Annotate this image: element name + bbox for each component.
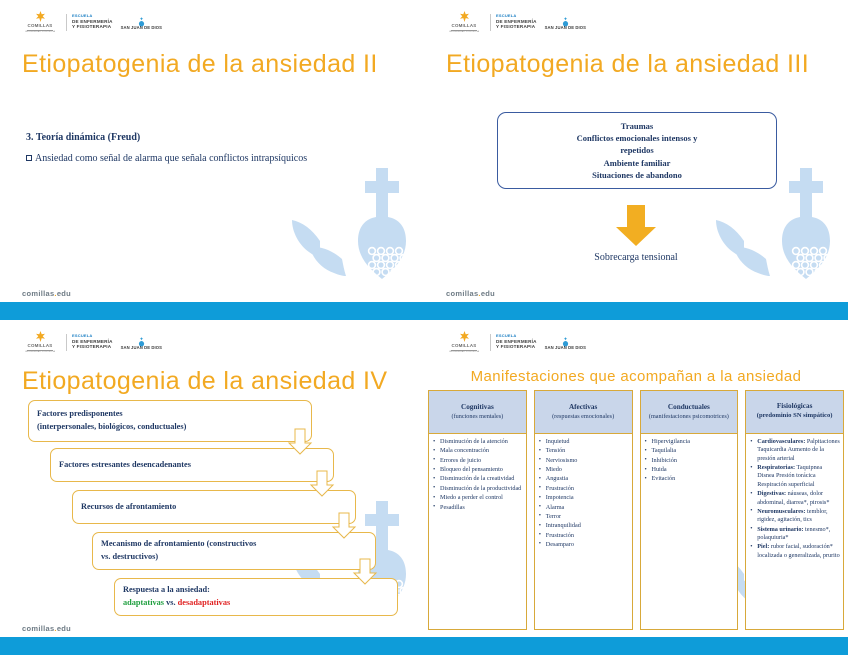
column-header-fisiologicas: Fisiológicas (predominio SN simpático) — [745, 390, 844, 434]
list-item: Desamparo — [539, 541, 629, 549]
column-subtitle: (funciones mentales) — [431, 413, 524, 421]
down-arrow-icon — [613, 205, 659, 247]
comillas-star-icon — [458, 11, 471, 22]
causes-box-text: Traumas Conflictos emocionales intensos … — [577, 120, 698, 182]
item-label: Cardiovasculares: — [757, 438, 805, 445]
list-item: Pesadillas — [433, 504, 523, 512]
vs-label: vs. — [164, 598, 178, 607]
column-subtitle: (manifestaciones psicomotrices) — [643, 413, 736, 421]
comillas-wordmark: COMILLAS — [452, 343, 477, 348]
flow-box-line-1: Factores estresantes desencadenantes — [59, 459, 325, 472]
list-item: Inhibición — [645, 457, 735, 465]
list-item: Disminución de la productividad — [433, 485, 523, 493]
column-title: Cognitivas — [431, 403, 524, 411]
column-fisiologicas: Fisiológicas (predominio SN simpático) C… — [745, 390, 844, 630]
anxiety-flow-diagram: Factores predisponentes (interpersonales… — [0, 320, 424, 655]
list-item: Taquilalia — [645, 447, 735, 455]
list-item: Hipervigilancia — [645, 438, 735, 446]
list-item: Respiratorias: Taquipnea Disnea Presión … — [750, 464, 840, 489]
sjd-wordmark: SAN JUAN DE DIOS — [545, 25, 586, 30]
item-label: Neuromusculares: — [757, 508, 805, 515]
list-item: Bloqueo del pensamiento — [433, 466, 523, 474]
adaptive-label: adaptativas — [123, 598, 164, 607]
item-text: rubor facial, sudoración* localizada o g… — [757, 543, 839, 558]
comillas-logo: COMILLAS UNIVERSIDAD PONTIFICIA — [19, 11, 61, 33]
comillas-star-icon — [458, 331, 471, 342]
square-bullet-icon — [26, 155, 32, 161]
flow-box-line-2: (interpersonales, biológicos, conductual… — [37, 421, 303, 434]
column-subtitle: (predominio SN simpático) — [748, 412, 841, 420]
section-heading: 3. Teoría dinámica (Freud) — [26, 132, 140, 143]
list-item: Disminución de la atención — [433, 438, 523, 446]
footer-url-tld: edu — [57, 289, 71, 298]
list-item: Piel: rubor facial, sudoración* localiza… — [750, 543, 840, 560]
flow-arrow-1-icon — [287, 428, 313, 456]
column-title: Conductuales — [643, 403, 736, 411]
page-title: Manifestaciones que acompañan a la ansie… — [424, 368, 848, 385]
comillas-subtitle: UNIVERSIDAD PONTIFICIA — [25, 31, 55, 33]
list-item: Frustración — [539, 485, 629, 493]
footer-url: comillas.edu — [22, 289, 71, 298]
list-item: Errores de juicio — [433, 457, 523, 465]
comillas-wordmark: COMILLAS — [28, 23, 53, 28]
footer-url-tld: edu — [57, 624, 71, 633]
footer-bar — [424, 302, 848, 320]
list-item: Miedo a perder el control — [433, 494, 523, 502]
bullet-text: Ansiedad como señal de alarma que señala… — [35, 152, 307, 166]
san-juan-de-dios-logo: SAN JUAN DE DIOS — [545, 14, 586, 30]
san-juan-de-dios-logo: SAN JUAN DE DIOS — [121, 14, 162, 30]
escuela-logo: ESCUELA DE ENFERMERÍA Y FISIOTERAPIA — [72, 14, 113, 29]
escuela-logo: ESCUELA DE ENFERMERÍA Y FISIOTERAPIA — [496, 334, 537, 349]
comillas-star-icon — [34, 11, 47, 22]
flow-box-line-2: vs. destructivos) — [101, 551, 367, 564]
comillas-logo: COMILLAS UNIVERSIDAD PONTIFICIA — [443, 331, 485, 353]
list-item: Evitación — [645, 475, 735, 483]
flow-box-predisposing-factors: Factores predisponentes (interpersonales… — [28, 400, 312, 442]
list-item: Disminución de la creatividad — [433, 475, 523, 483]
slide-4: COMILLAS UNIVERSIDAD PONTIFICIA ESCUELA … — [424, 320, 848, 655]
column-cognitivas: Cognitivas (funciones mentales) Disminuc… — [428, 390, 527, 630]
flow-box-line-1: Respuesta a la ansiedad: — [123, 584, 389, 597]
list-item: Huida — [645, 466, 735, 474]
column-title: Afectivas — [537, 403, 630, 411]
item-label: Piel: — [757, 543, 769, 550]
pomegranate-icon — [561, 14, 570, 24]
san-juan-de-dios-logo: SAN JUAN DE DIOS — [545, 334, 586, 350]
footer-url-name: comillas — [22, 289, 54, 298]
sjd-wordmark: SAN JUAN DE DIOS — [545, 345, 586, 350]
column-header-conductuales: Conductuales (manifestaciones psicomotri… — [640, 390, 739, 434]
institution-logo: COMILLAS UNIVERSIDAD PONTIFICIA ESCUELA … — [443, 11, 586, 33]
comillas-subtitle: UNIVERSIDAD PONTIFICIA — [449, 351, 479, 353]
logo-separator — [66, 14, 67, 31]
list-item: Nerviosismo — [539, 457, 629, 465]
list-item: Mala concentración — [433, 447, 523, 455]
manifestations-table: Cognitivas (funciones mentales) Disminuc… — [424, 390, 848, 630]
logo-separator — [490, 14, 491, 31]
comillas-logo: COMILLAS UNIVERSIDAD PONTIFICIA — [443, 11, 485, 33]
comillas-wordmark: COMILLAS — [452, 23, 477, 28]
page-title: Etiopatogenia de la ansiedad III — [446, 50, 809, 79]
institution-logo: COMILLAS UNIVERSIDAD PONTIFICIA ESCUELA … — [19, 11, 162, 33]
footer-url: comillas.edu — [22, 624, 71, 633]
list-item: Ansiedad como señal de alarma que señala… — [26, 152, 376, 166]
pomegranate-icon — [137, 14, 146, 24]
footer-url-tld: edu — [481, 289, 495, 298]
list-afectivas: Inquietud Tensión Nerviosismo Miedo Angu… — [539, 438, 629, 549]
flow-box-line-1: Mecanismo de afrontamiento (constructivo… — [101, 538, 367, 551]
column-title: Fisiológicas — [748, 402, 841, 410]
column-body-cognitivas: Disminución de la atención Mala concentr… — [428, 434, 527, 630]
slide-2: COMILLAS UNIVERSIDAD PONTIFICIA ESCUELA … — [424, 0, 848, 320]
list-item: Cardiovasculares: Palpitaciones Taquicar… — [750, 438, 840, 463]
list-item: Digestivas: náuseas, dolor abdominal, di… — [750, 490, 840, 507]
flow-arrow-2-icon — [309, 470, 335, 498]
column-conductuales: Conductuales (manifestaciones psicomotri… — [640, 390, 739, 630]
item-label: Respiratorias: — [757, 464, 795, 471]
slide-3: COMILLAS UNIVERSIDAD PONTIFICIA ESCUELA … — [0, 320, 424, 655]
institution-logo: COMILLAS UNIVERSIDAD PONTIFICIA ESCUELA … — [443, 331, 586, 353]
escuela-line-3: Y FISIOTERAPIA — [496, 344, 537, 349]
outcome-caption: Sobrecarga tensional — [424, 252, 848, 263]
list-item: Miedo — [539, 466, 629, 474]
list-conductuales: Hipervigilancia Taquilalia Inhibición Hu… — [645, 438, 735, 484]
escuela-line-3: Y FISIOTERAPIA — [496, 24, 537, 29]
list-item: Terror — [539, 513, 629, 521]
slide-1: COMILLAS UNIVERSIDAD PONTIFICIA ESCUELA … — [0, 0, 424, 320]
page-title: Etiopatogenia de la ansiedad II — [22, 50, 378, 79]
footer-url: comillas.edu — [446, 289, 495, 298]
column-header-afectivas: Afectivas (respuestas emocionales) — [534, 390, 633, 434]
flow-arrow-4-icon — [352, 558, 378, 586]
list-cognitivas: Disminución de la atención Mala concentr… — [433, 438, 523, 512]
footer-bar — [0, 302, 424, 320]
footer-bar — [0, 637, 424, 655]
list-item: Neuromusculares: temblor, rigidez, agita… — [750, 508, 840, 525]
flow-box-line-1: Factores predisponentes — [37, 408, 303, 421]
list-item: Angustia — [539, 475, 629, 483]
flow-box-line-1: Recursos de afrontamiento — [81, 501, 347, 514]
list-item: Frustración — [539, 532, 629, 540]
column-afectivas: Afectivas (respuestas emocionales) Inqui… — [534, 390, 633, 630]
maladaptive-label: desadaptativas — [178, 598, 231, 607]
footer-bar — [424, 637, 848, 655]
column-body-conductuales: Hipervigilancia Taquilalia Inhibición Hu… — [640, 434, 739, 630]
flow-arrow-3-icon — [331, 512, 357, 540]
column-body-afectivas: Inquietud Tensión Nerviosismo Miedo Angu… — [534, 434, 633, 630]
escuela-logo: ESCUELA DE ENFERMERÍA Y FISIOTERAPIA — [496, 14, 537, 29]
footer-url-name: comillas — [22, 624, 54, 633]
column-subtitle: (respuestas emocionales) — [537, 413, 630, 421]
slide-deck: COMILLAS UNIVERSIDAD PONTIFICIA ESCUELA … — [0, 0, 848, 655]
escuela-line-3: Y FISIOTERAPIA — [72, 24, 113, 29]
list-item: Inquietud — [539, 438, 629, 446]
logo-separator — [490, 334, 491, 351]
item-label: Sistema urinario: — [757, 526, 803, 533]
item-label: Digestivas: — [757, 490, 786, 497]
sjd-wordmark: SAN JUAN DE DIOS — [121, 25, 162, 30]
list-item: Alarma — [539, 504, 629, 512]
list-item: Impotencia — [539, 494, 629, 502]
list-item: Sistema urinario: tenesmo*, polaquiuria* — [750, 526, 840, 543]
causes-box: Traumas Conflictos emocionales intensos … — [497, 112, 777, 189]
column-header-cognitivas: Cognitivas (funciones mentales) — [428, 390, 527, 434]
footer-url-name: comillas — [446, 289, 478, 298]
list-item: Tensión — [539, 447, 629, 455]
column-body-fisiologicas: Cardiovasculares: Palpitaciones Taquicar… — [745, 434, 844, 630]
pomegranate-icon — [561, 334, 570, 344]
list-fisiologicas: Cardiovasculares: Palpitaciones Taquicar… — [750, 438, 840, 560]
list-item: Intranquilidad — [539, 522, 629, 530]
comillas-subtitle: UNIVERSIDAD PONTIFICIA — [449, 31, 479, 33]
comillas-watermark — [280, 163, 424, 298]
flow-box-response-types: adaptativas vs. desadaptativas — [123, 597, 389, 610]
